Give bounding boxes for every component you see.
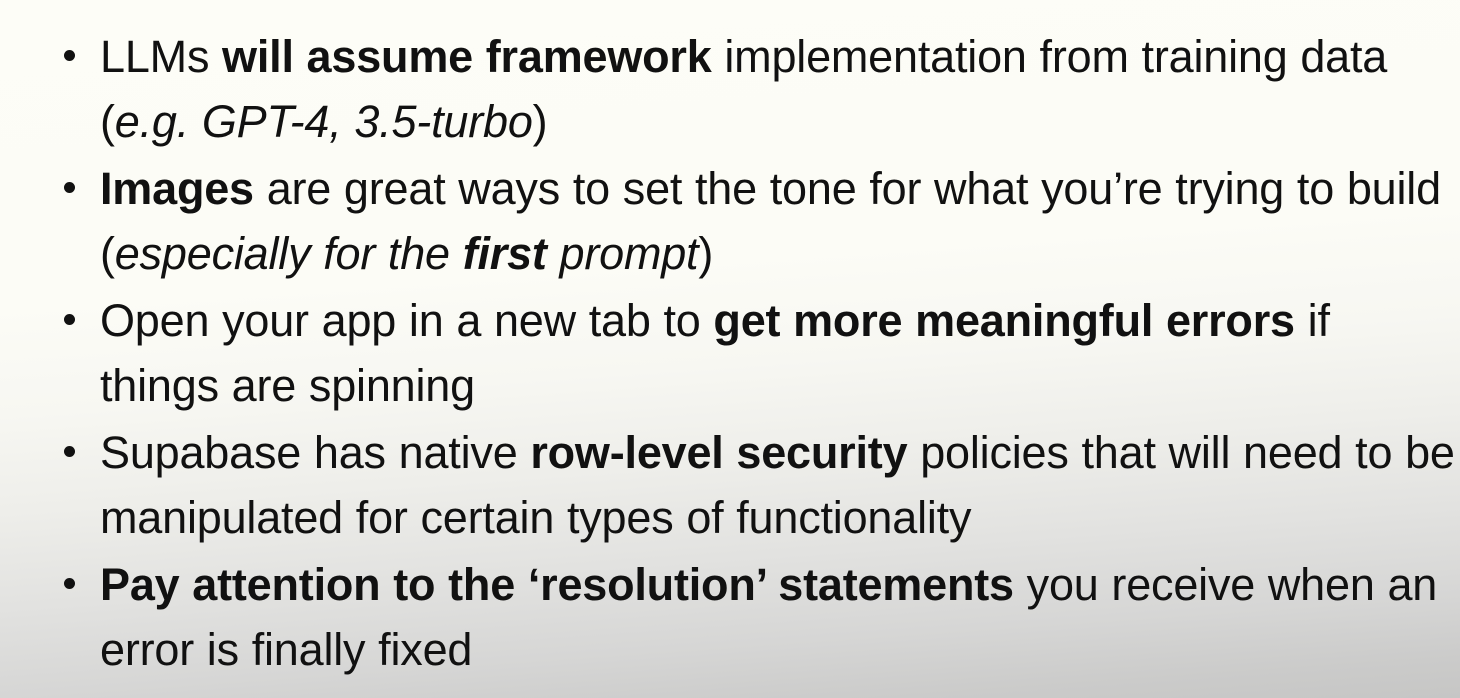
text-run: especially for the <box>115 228 463 279</box>
bullet-resolution-statements: Pay attention to the ‘resolution’ statem… <box>100 552 1460 682</box>
text-run: Supabase has native <box>100 427 530 478</box>
text-run: Images <box>100 163 254 214</box>
bullet-item: Pay attention to the ‘resolution’ statem… <box>0 552 1460 682</box>
bullet-item: Images are great ways to set the tone fo… <box>0 156 1460 286</box>
bullet-item: Open your app in a new tab to get more m… <box>0 288 1460 418</box>
bullet-llms-assume-framework: LLMs will assume framework implementatio… <box>100 24 1460 154</box>
text-run: Open your app in a new tab to <box>100 295 713 346</box>
bullet-item: LLMs will assume framework implementatio… <box>0 24 1460 154</box>
bullet-images-set-tone: Images are great ways to set the tone fo… <box>100 156 1460 286</box>
text-run: e.g. GPT-4, 3.5-turbo <box>115 96 533 147</box>
bullet-list: LLMs will assume framework implementatio… <box>0 0 1460 682</box>
bullet-point-icon <box>64 182 75 193</box>
slide-canvas: LLMs will assume framework implementatio… <box>0 0 1460 698</box>
text-run: will assume framework <box>222 31 712 82</box>
bullet-point-icon <box>64 50 75 61</box>
bullet-item: Supabase has native row-level security p… <box>0 420 1460 550</box>
text-run: get more meaningful errors <box>713 295 1294 346</box>
text-run: first <box>463 228 547 279</box>
text-run: ) <box>698 228 713 279</box>
text-run: row-level security <box>530 427 907 478</box>
bullet-point-icon <box>64 446 75 457</box>
text-run: prompt <box>547 228 699 279</box>
bullet-point-icon <box>64 314 75 325</box>
text-run: Pay attention to the ‘resolution’ statem… <box>100 559 1014 610</box>
text-run: LLMs <box>100 31 222 82</box>
text-run: ) <box>533 96 548 147</box>
bullet-point-icon <box>64 578 75 589</box>
bullet-open-app-new-tab: Open your app in a new tab to get more m… <box>100 288 1460 418</box>
bullet-supabase-row-level-security: Supabase has native row-level security p… <box>100 420 1460 550</box>
